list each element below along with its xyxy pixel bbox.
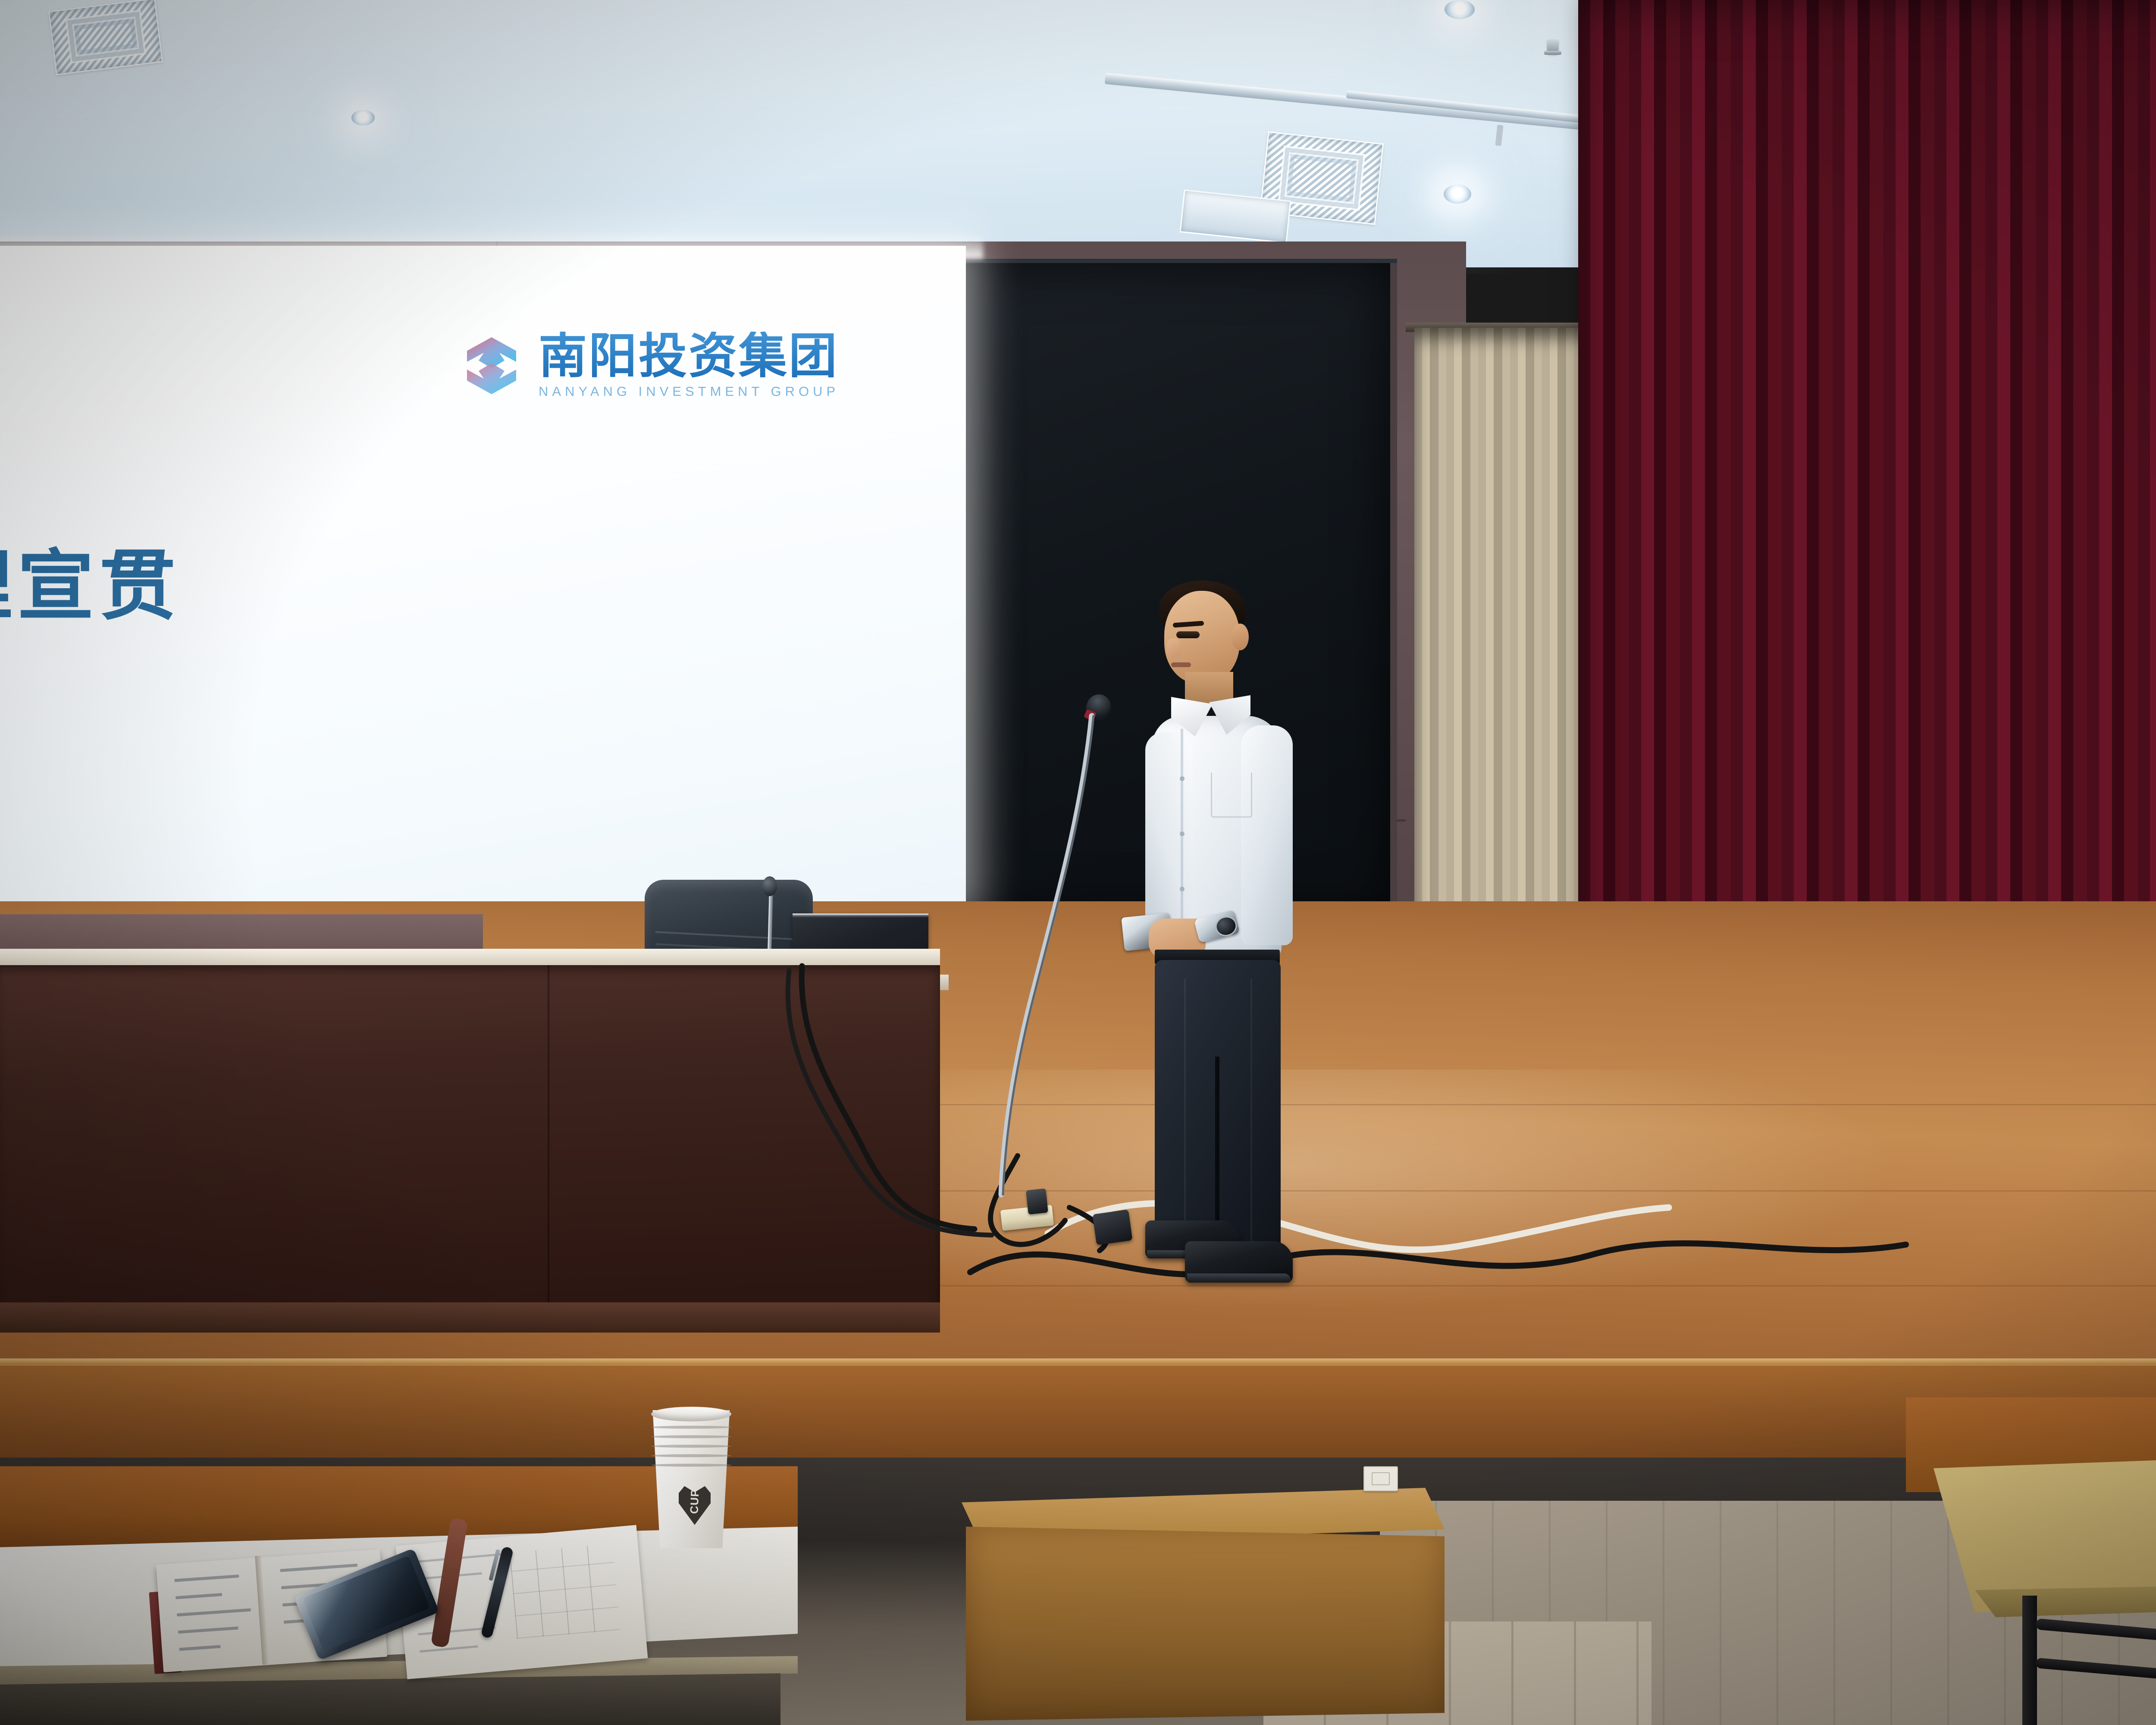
slide-logo: 南阳投资集团 NANYANG INVESTMENT GROUP bbox=[459, 326, 946, 405]
shirt-button bbox=[1180, 776, 1185, 781]
slide-title: 理宣贯 bbox=[0, 524, 181, 635]
wall-power-outlet[interactable] bbox=[1363, 1466, 1398, 1491]
recessed-downlight-icon bbox=[1444, 185, 1471, 204]
wooden-step-block-face bbox=[966, 1527, 1445, 1721]
fire-sprinkler-icon bbox=[1547, 40, 1558, 54]
trouser-crease bbox=[1184, 979, 1186, 1255]
paper-ruled-grid bbox=[510, 1544, 620, 1639]
ceiling bbox=[0, 0, 1630, 267]
presenter bbox=[1104, 574, 1328, 1259]
slide-company-name-en: NANYANG INVESTMENT GROUP bbox=[539, 384, 839, 399]
presenter-right-arm bbox=[1241, 725, 1293, 945]
paper-cup-body bbox=[650, 1410, 732, 1548]
desk-back-panel bbox=[0, 914, 483, 953]
recessed-downlight-2-icon bbox=[351, 110, 375, 125]
paper-cup-stack[interactable]: CUP bbox=[650, 1410, 732, 1557]
presenter-shirt-pocket bbox=[1211, 773, 1252, 818]
table-leg bbox=[2022, 1596, 2037, 1725]
shirt-button bbox=[1180, 887, 1185, 891]
presenter-shirt-placket bbox=[1181, 729, 1183, 944]
laptop-lid-highlight bbox=[793, 913, 928, 918]
presenter-shoe-right bbox=[1185, 1241, 1293, 1283]
slide-subtitle: 部 bbox=[0, 431, 2, 485]
recessed-downlight-3-icon bbox=[1445, 0, 1475, 19]
slide-company-name-cn: 南阳投资集团 bbox=[539, 332, 839, 381]
presenter-nose bbox=[1167, 638, 1181, 658]
gooseneck-microphone-icon[interactable] bbox=[762, 876, 777, 896]
presenter-head bbox=[1164, 591, 1240, 684]
trouser-crease bbox=[1250, 979, 1252, 1255]
presenter-left-arm bbox=[1145, 732, 1193, 935]
desk-panel-seam bbox=[548, 965, 549, 1310]
hexagon-gradient-logo-icon bbox=[459, 333, 524, 398]
conference-hall-photo: 南阳投资集团 NANYANG INVESTMENT GROUP 部 理宣贯 安全… bbox=[0, 0, 2156, 1725]
presenter-mouth bbox=[1171, 662, 1191, 667]
cup-logo-text: CUP bbox=[687, 1487, 702, 1516]
presenter-eye bbox=[1176, 631, 1200, 638]
paper-cup-rim bbox=[651, 1407, 731, 1421]
shirt-button bbox=[1180, 831, 1185, 836]
hvac-diffuser-2-icon bbox=[48, 0, 163, 75]
presenter-ear bbox=[1232, 624, 1249, 650]
